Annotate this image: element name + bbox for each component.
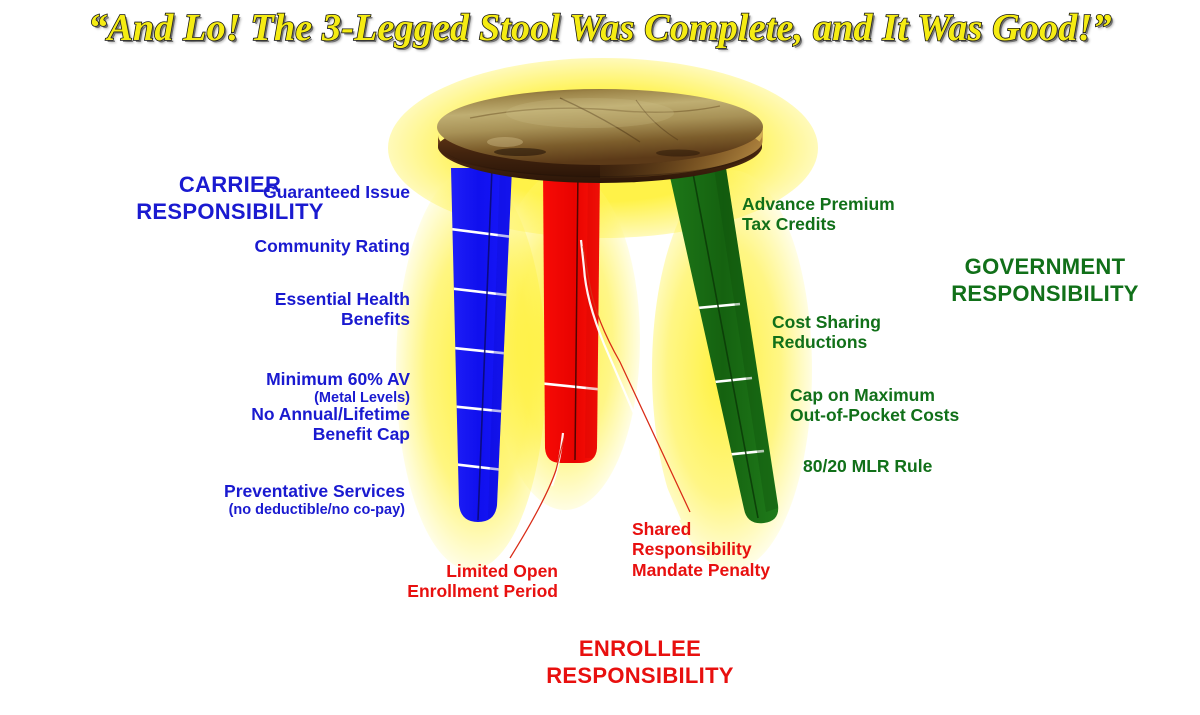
enrollee-item-limited-open-enrollment: Limited Open Enrollment Period <box>330 561 558 602</box>
glow-blue-leg <box>396 170 546 570</box>
heading-government-responsibility: GOVERNMENT RESPONSIBILITY <box>905 254 1185 308</box>
government-item-cost-sharing-reductions: Cost Sharing Reductions <box>772 312 1022 353</box>
carrier-item-minimum-av-text: Minimum 60% AV <box>266 369 410 389</box>
leg-enrollee-red <box>510 168 690 558</box>
page-title: “And Lo! The 3-Legged Stool Was Complete… <box>0 6 1200 50</box>
government-item-cap-on-max-oop: Cap on Maximum Out-of-Pocket Costs <box>790 385 1050 426</box>
diagram-canvas: “And Lo! The 3-Legged Stool Was Complete… <box>0 0 1200 715</box>
carrier-item-preventative-services-text: Preventative Services <box>224 481 405 501</box>
government-item-mlr-rule: 80/20 MLR Rule <box>803 456 1043 476</box>
wooden-stool-seat <box>437 89 763 183</box>
carrier-item-guaranteed-issue: Guaranteed Issue <box>195 182 410 202</box>
government-item-advance-premium-tax-credits: Advance Premium Tax Credits <box>742 194 992 235</box>
carrier-item-preventative-services-sub: (no deductible/no co-pay) <box>155 502 405 519</box>
stool-illustration <box>0 0 1200 715</box>
heading-enrollee-responsibility: ENROLLEE RESPONSIBILITY <box>500 636 780 690</box>
carrier-item-preventative-services: Preventative Services (no deductible/no … <box>155 461 405 539</box>
enrollee-item-shared-responsibility-mandate-penalty: Shared Responsibility Mandate Penalty <box>632 519 892 580</box>
carrier-item-community-rating: Community Rating <box>195 236 410 256</box>
carrier-item-essential-health-benefits: Essential Health Benefits <box>195 289 410 330</box>
carrier-item-no-annual-lifetime-cap: No Annual/Lifetime Benefit Cap <box>175 404 410 445</box>
glow-red-leg <box>490 170 640 510</box>
leg-carrier-blue <box>426 168 520 522</box>
